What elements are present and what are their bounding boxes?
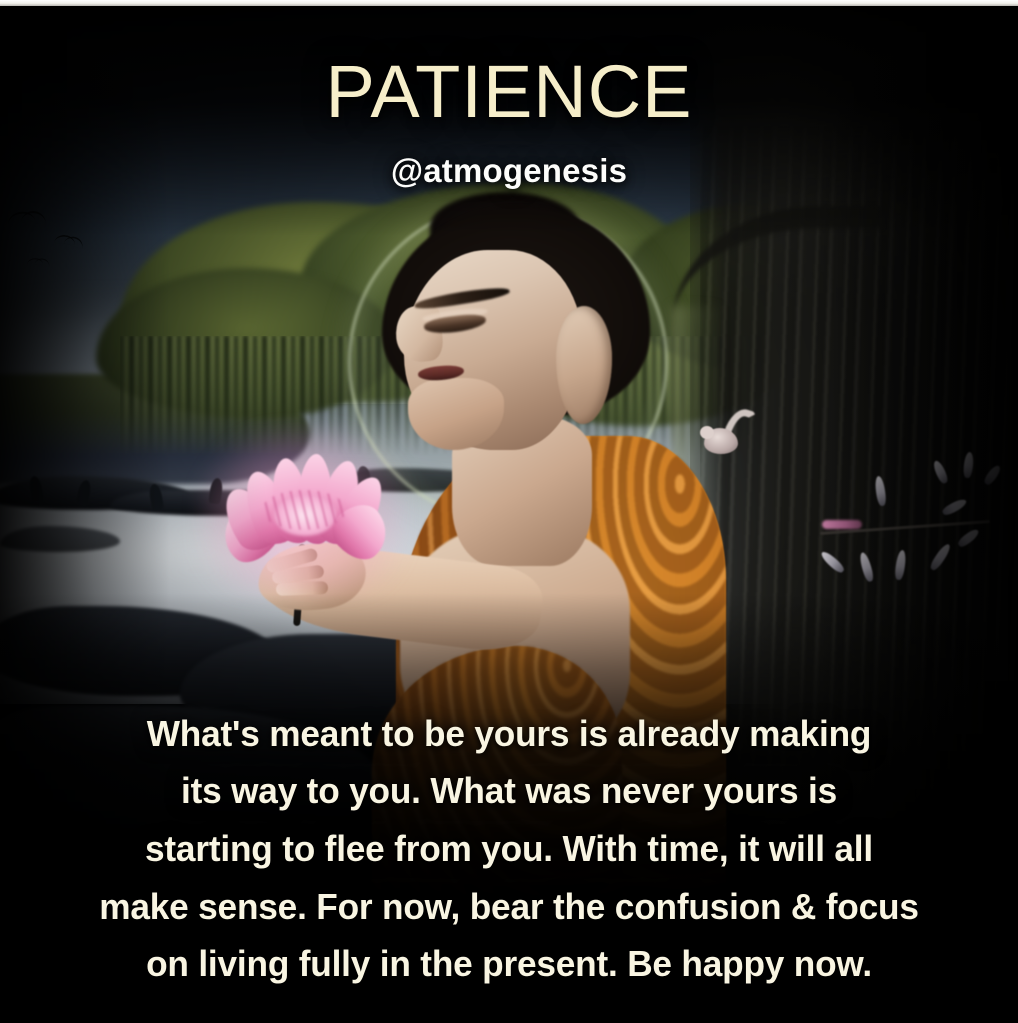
lotus-flower [222, 450, 382, 568]
buddha-ear [556, 306, 612, 424]
quote-line: make sense. For now, bear the confusion … [29, 878, 988, 936]
quote-line: What's meant to be yours is already maki… [29, 705, 988, 763]
quote-line: its way to you. What was never yours is [29, 762, 988, 820]
top-white-strip [0, 0, 1018, 6]
quote-line: starting to flee from you. With time, it… [29, 820, 988, 878]
quote-poster: PATIENCE @atmogenesis What's meant to be… [0, 0, 1018, 1023]
quote-text: What's meant to be yours is already maki… [29, 705, 988, 993]
quote-line: on living fully in the present. Be happy… [29, 935, 988, 993]
author-handle: @atmogenesis [0, 152, 1018, 190]
lotus-streaks [262, 490, 346, 530]
page-title: PATIENCE [0, 54, 1018, 129]
